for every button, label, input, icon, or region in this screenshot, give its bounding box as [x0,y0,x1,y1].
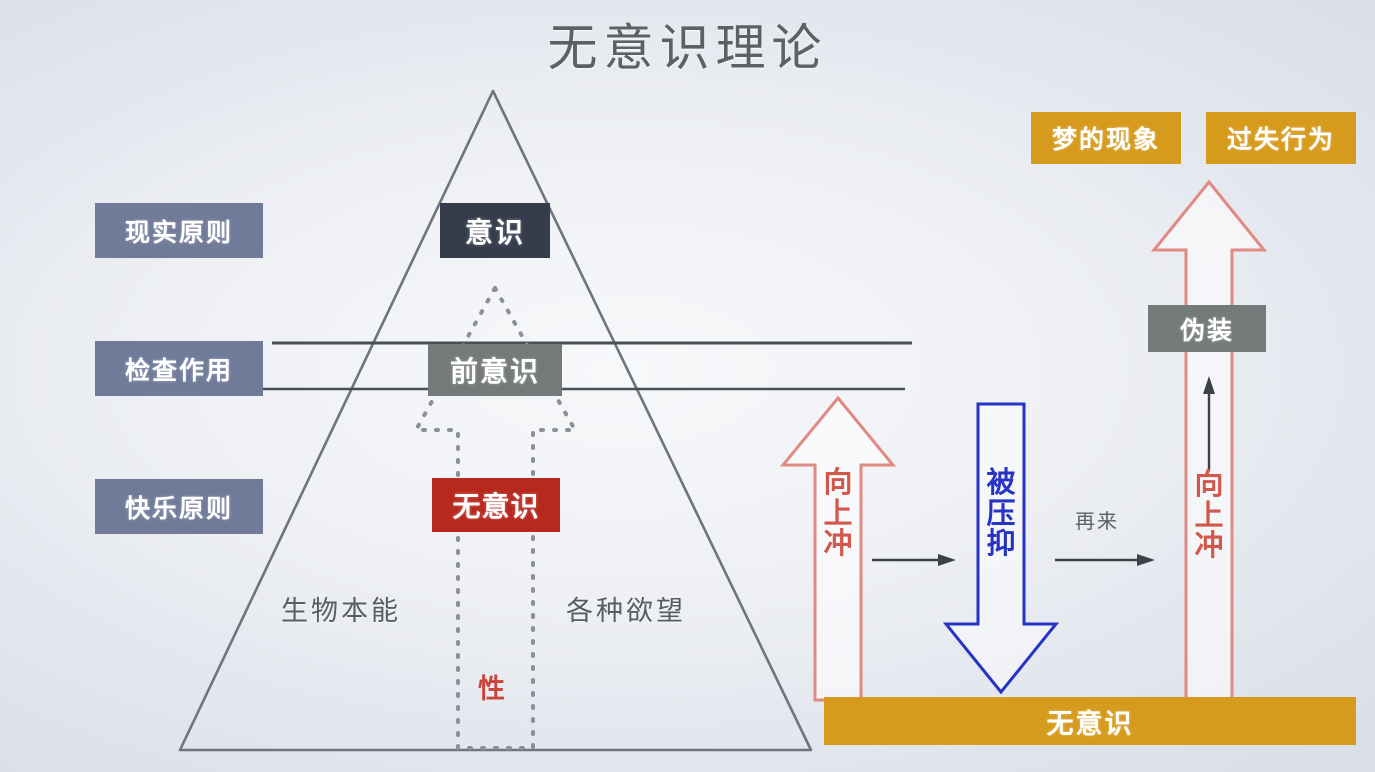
vchar: 抑 [986,529,1015,560]
pyramid-outline [180,91,811,750]
vchar: 被 [986,468,1015,499]
vchar: 冲 [1194,531,1223,562]
vchar: 冲 [823,529,852,560]
connector-arrow-2 [1055,554,1155,566]
label-various-desires: 各种欲望 [566,589,686,628]
label-sex-drive: 性 [478,667,506,706]
vchar: 向 [823,468,852,499]
label-pleasure-principle: 快乐原则 [95,479,263,534]
label-unconscious: 无意识 [432,478,560,532]
vchar: 向 [1194,470,1223,501]
label-upward-rush-1: 向 上 冲 [815,468,861,560]
label-parapraxis-behavior: 过失行为 [1206,112,1356,164]
label-upward-rush-2: 向 上 冲 [1186,470,1232,562]
label-conscious: 意识 [440,203,550,258]
vchar: 上 [823,499,852,530]
label-unconscious-base-bar: 无意识 [824,697,1356,745]
vchar: 压 [986,499,1015,530]
diagram-canvas: 无意识理论 现实原则 检查作用 快乐 [0,0,1375,772]
label-repressed: 被 压 抑 [978,468,1024,560]
label-preconscious: 前意识 [428,344,562,396]
label-biological-instinct: 生物本能 [281,589,401,628]
label-reality-principle: 现实原则 [95,203,263,258]
connector-arrow-1 [872,554,956,566]
label-censorship-function: 检查作用 [95,341,263,396]
vchar: 上 [1194,501,1223,532]
label-again: 再来 [1075,505,1119,534]
label-dream-phenomena: 梦的现象 [1031,112,1181,164]
label-disguise: 伪装 [1148,305,1266,352]
